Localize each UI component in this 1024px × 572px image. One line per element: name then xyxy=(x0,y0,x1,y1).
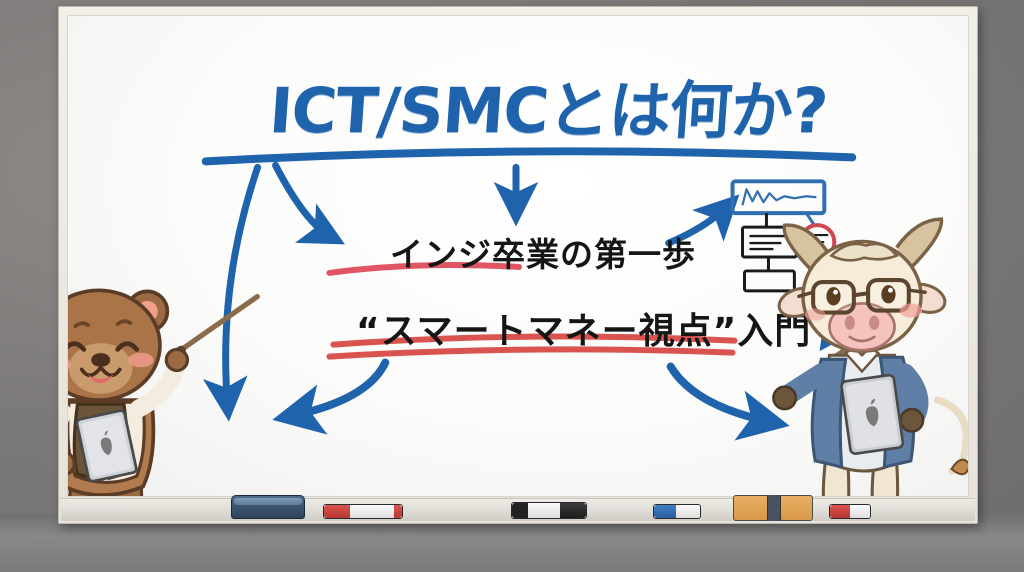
marker-blue[interactable] xyxy=(653,504,701,519)
bull-hand-left xyxy=(773,387,795,409)
bull-teacher xyxy=(68,16,968,496)
bull-tablet xyxy=(841,375,904,455)
whiteboard-scene: ICT/SMCとは何か? インジ卒業の第一歩 “スマートマネー視点”入門 xyxy=(0,0,1024,572)
eraser-blue[interactable] xyxy=(231,495,305,519)
bull-eye-left xyxy=(826,287,840,305)
bull-cheek-right xyxy=(900,303,922,317)
bull-cheek-left xyxy=(805,309,825,321)
eraser-tan[interactable] xyxy=(733,495,813,521)
whiteboard-frame: ICT/SMCとは何か? インジ卒業の第一歩 “スマートマネー視点”入門 xyxy=(58,6,978,524)
marker-black[interactable] xyxy=(511,502,587,519)
bull-eye-right xyxy=(881,285,895,303)
whiteboard-tray xyxy=(61,498,975,521)
marker-red-1[interactable] xyxy=(323,504,403,519)
bull-hand-right xyxy=(901,409,923,431)
marker-red-2[interactable] xyxy=(829,504,871,519)
whiteboard-surface: ICT/SMCとは何か? インジ卒業の第一歩 “スマートマネー視点”入門 xyxy=(67,15,969,497)
